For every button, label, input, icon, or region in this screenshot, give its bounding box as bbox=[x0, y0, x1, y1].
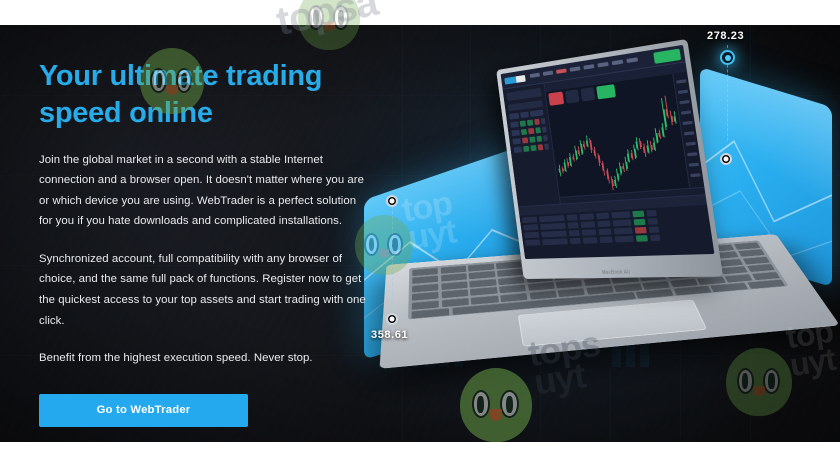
app-deposit-button[interactable] bbox=[653, 49, 681, 64]
watermark-mascot-right bbox=[726, 348, 792, 416]
page-title: Your ultimate trading speed online bbox=[39, 58, 369, 133]
hero-paragraph-3: Benefit from the highest execution speed… bbox=[39, 348, 369, 369]
laptop-screen bbox=[501, 45, 715, 259]
hero-copy: Your ultimate trading speed online Join … bbox=[39, 58, 369, 427]
node-mid-right bbox=[720, 153, 732, 165]
watermark-mascot-top bbox=[140, 48, 204, 114]
watchlist-row[interactable] bbox=[512, 135, 548, 144]
node-bottom-left bbox=[386, 313, 398, 325]
price-label-bottom: 358.61 bbox=[371, 329, 408, 341]
node-mid-left bbox=[386, 195, 398, 207]
price-label-top: 278.23 bbox=[707, 30, 744, 42]
chart-panel bbox=[544, 62, 705, 203]
hero-paragraph-1: Join the global market in a second with … bbox=[39, 150, 369, 232]
laptop-brand-label: MacBook Air bbox=[523, 268, 723, 277]
node-top-right bbox=[720, 50, 735, 65]
laptop-lid: MacBook Air bbox=[496, 39, 723, 279]
lot-size-field[interactable] bbox=[565, 89, 580, 103]
order-type-field[interactable] bbox=[580, 87, 595, 101]
page-root: Your ultimate trading speed online Join … bbox=[0, 0, 840, 473]
hero-paragraph-2: Synchronized account, full compatibility… bbox=[39, 249, 369, 331]
orders-table bbox=[518, 194, 714, 259]
buy-button[interactable] bbox=[596, 84, 616, 99]
watermark-mascot-left bbox=[355, 215, 413, 275]
watermark-mascot-center bbox=[460, 368, 532, 442]
watermark-mascot-upper-right bbox=[298, 0, 360, 50]
sell-button[interactable] bbox=[548, 91, 564, 105]
sidebar-search-field[interactable] bbox=[506, 88, 542, 101]
go-to-webtrader-button[interactable]: Go to WebTrader bbox=[39, 394, 248, 427]
app-logo-icon bbox=[504, 74, 525, 84]
watchlist-row[interactable] bbox=[514, 144, 550, 153]
hero-section: Your ultimate trading speed online Join … bbox=[0, 25, 840, 442]
candlestick-chart bbox=[550, 92, 688, 195]
